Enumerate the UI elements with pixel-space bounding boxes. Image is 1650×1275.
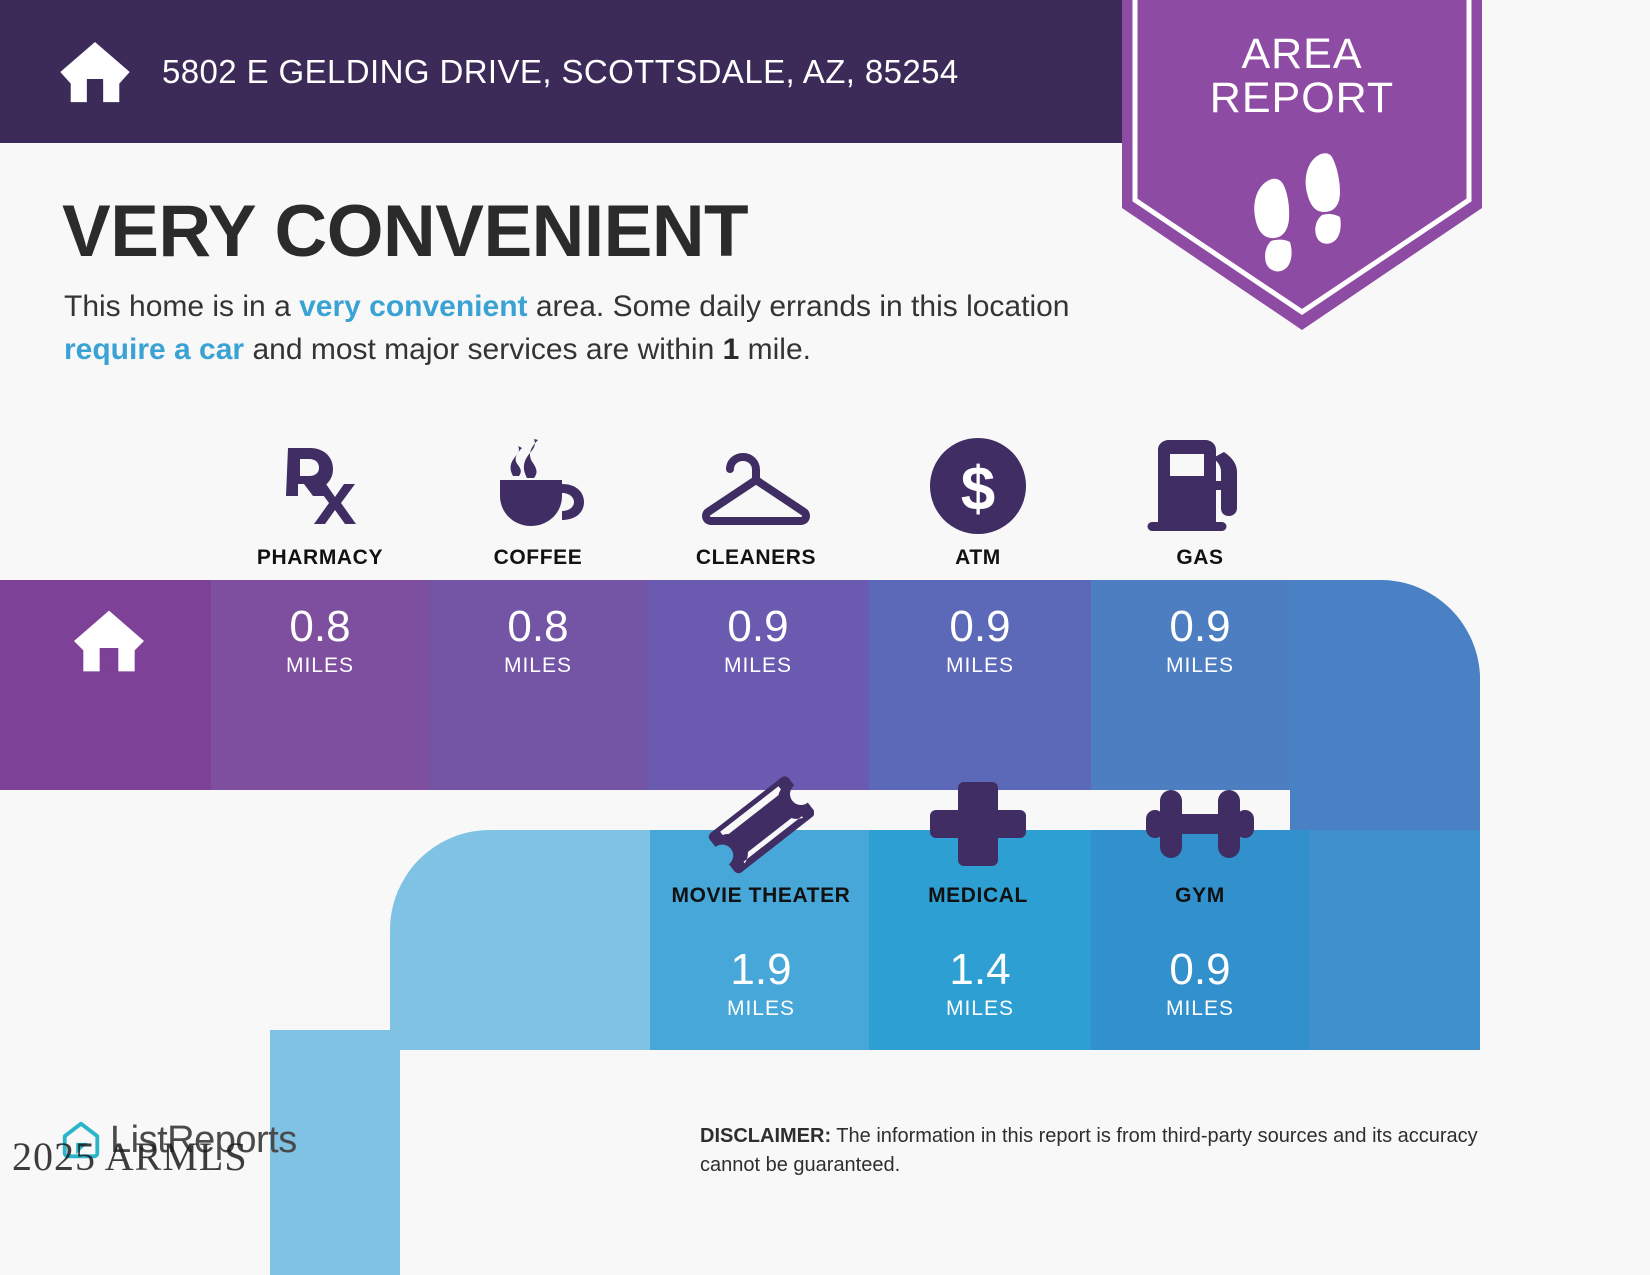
category-icon-medical: MEDICAL [869, 758, 1087, 908]
category-label: COFFEE [494, 546, 583, 570]
category-icon-coffee: COFFEE [429, 420, 647, 570]
clothes-hanger-icon [694, 432, 818, 540]
svg-text:$: $ [961, 455, 995, 524]
distance-unit: MILES [946, 997, 1014, 1021]
icon-row-1: PHARMACY COFFEE [0, 420, 1650, 570]
category-icon-pharmacy: PHARMACY [211, 420, 429, 570]
coffee-cup-icon [486, 432, 590, 540]
distance-unit: MILES [504, 654, 572, 678]
distance-unit: MILES [724, 654, 792, 678]
distance-value: 0.8 [507, 605, 568, 649]
desc-part-4: mile. [739, 333, 811, 366]
distance-value: 0.8 [289, 605, 350, 649]
distance-unit: MILES [946, 654, 1014, 678]
desc-highlight-2: require a car [64, 333, 244, 366]
desc-highlight-1: very convenient [299, 290, 527, 323]
distance-cell-medical: 1.4 MILES [871, 925, 1089, 1043]
category-label: CLEANERS [696, 546, 816, 570]
distance-cell-coffee: 0.8 MILES [429, 582, 647, 700]
distance-cell-pharmacy: 0.8 MILES [211, 582, 429, 700]
badge-label: AREA REPORT [1122, 32, 1482, 121]
prescription-rx-icon [270, 432, 370, 540]
header-bar: 5802 E GELDING DRIVE, SCOTTSDALE, AZ, 85… [0, 0, 1190, 143]
dollar-circle-icon: $ [926, 432, 1030, 540]
distance-unit: MILES [1166, 654, 1234, 678]
desc-highlight-3: 1 [723, 333, 740, 366]
home-icon [71, 606, 147, 676]
distance-value: 0.9 [949, 605, 1010, 649]
distance-cell-gym: 0.9 MILES [1091, 925, 1309, 1043]
copyright-watermark: 2025 ARMLS [12, 1133, 248, 1180]
desc-part-2: area. Some daily errands in this locatio… [528, 290, 1070, 323]
property-address: 5802 E GELDING DRIVE, SCOTTSDALE, AZ, 85… [162, 53, 959, 91]
badge-line-2: REPORT [1210, 74, 1394, 122]
category-label: ATM [955, 546, 1001, 570]
category-icon-atm: $ ATM [869, 420, 1087, 570]
dumbbell-icon [1132, 770, 1268, 878]
fuel-pump-icon [1146, 432, 1254, 540]
page-title: VERY CONVENIENT [62, 190, 748, 273]
distance-cell-gas: 0.9 MILES [1091, 582, 1309, 700]
category-label: MEDICAL [928, 884, 1028, 908]
category-label: MOVIE THEATER [672, 884, 851, 908]
distance-value: 0.9 [727, 605, 788, 649]
distance-value: 0.9 [1169, 948, 1230, 992]
category-icon-movie-theater: MOVIE THEATER [652, 758, 870, 908]
distance-unit: MILES [727, 997, 795, 1021]
disclaimer-text: DISCLAIMER: The information in this repo… [700, 1122, 1505, 1180]
movie-ticket-icon [708, 770, 814, 878]
badge-line-1: AREA [1241, 30, 1362, 78]
desc-part-3: and most major services are within [244, 333, 723, 366]
distance-unit: MILES [286, 654, 354, 678]
category-label: PHARMACY [257, 546, 383, 570]
disclaimer-label: DISCLAIMER: [700, 1125, 831, 1147]
distance-cell-movie-theater: 1.9 MILES [652, 925, 870, 1043]
icon-row-2: MOVIE THEATER MEDICAL [0, 758, 1650, 908]
area-report-page: 5802 E GELDING DRIVE, SCOTTSDALE, AZ, 85… [0, 0, 1650, 1275]
distance-cell-cleaners: 0.9 MILES [649, 582, 867, 700]
medical-cross-icon [928, 770, 1028, 878]
home-start-marker [0, 582, 218, 700]
area-report-badge: AREA REPORT [1122, 0, 1482, 330]
distance-value: 1.4 [949, 948, 1010, 992]
page-description: This home is in a very convenient area. … [64, 286, 1109, 371]
home-icon [58, 35, 132, 109]
category-label: GYM [1175, 884, 1225, 908]
distance-cell-atm: 0.9 MILES [871, 582, 1089, 700]
distance-unit: MILES [1166, 997, 1234, 1021]
category-icon-cleaners: CLEANERS [647, 420, 865, 570]
distance-value: 1.9 [730, 948, 791, 992]
distance-value: 0.9 [1169, 605, 1230, 649]
category-label: GAS [1176, 546, 1223, 570]
category-icon-gym: GYM [1091, 758, 1309, 908]
desc-part-1: This home is in a [64, 290, 299, 323]
category-icon-gas: GAS [1091, 420, 1309, 570]
